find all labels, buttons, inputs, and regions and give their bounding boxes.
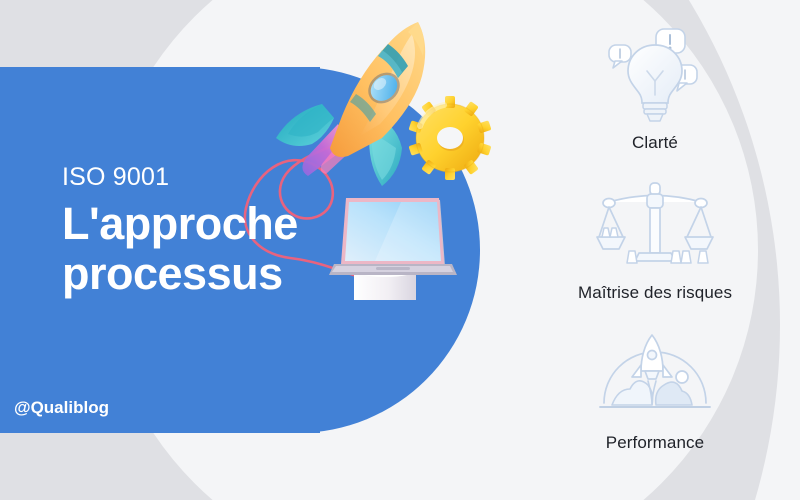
- hero-eyebrow: ISO 9001: [62, 163, 362, 192]
- feature-item-maitrise-des-risques: Maîtrise des risques: [520, 172, 790, 303]
- feature-item-clarte: Clarté: [520, 22, 790, 153]
- hero-headline-line1: L'approche: [62, 199, 362, 249]
- hero-headline-line2: processus: [62, 249, 362, 299]
- lightbulb-speech-bubbles-icon: [520, 22, 790, 127]
- feature-label-clarte: Clarté: [520, 133, 790, 153]
- feature-label-maitrise-des-risques: Maîtrise des risques: [520, 283, 790, 303]
- feature-label-performance: Performance: [520, 433, 790, 453]
- watermark-handle: @Qualiblog: [14, 398, 109, 418]
- poster-canvas: ISO 9001 L'approche processus @Qualiblog: [0, 0, 800, 500]
- hero-headline: L'approche processus: [62, 199, 362, 300]
- feature-item-performance: Performance: [520, 322, 790, 453]
- hero-text-block: ISO 9001 L'approche processus: [62, 163, 362, 300]
- rocket-launch-gauge-icon: [520, 322, 790, 427]
- feature-list: Clarté: [520, 22, 790, 478]
- balance-scale-icon: [520, 172, 790, 277]
